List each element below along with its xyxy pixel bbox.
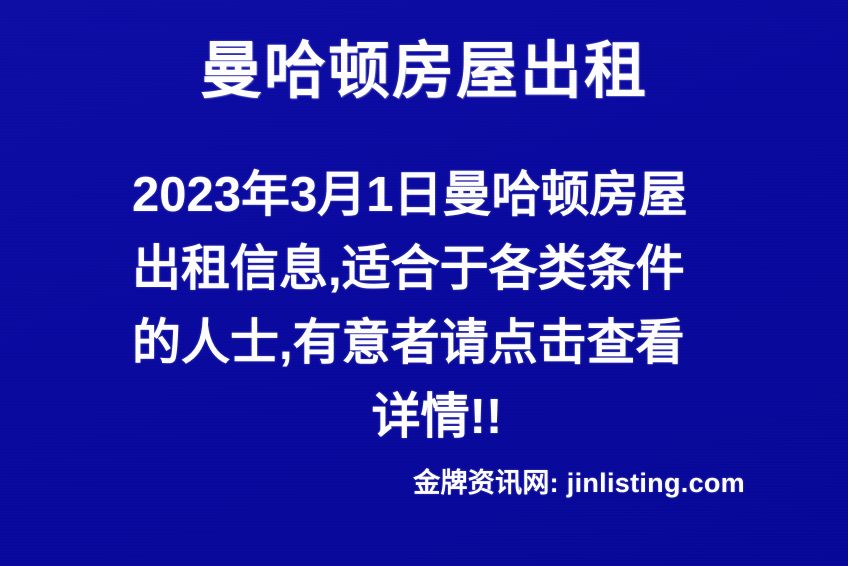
rental-ad-poster: 曼哈顿房屋出租 2023年3月1日曼哈顿房屋 出租信息,适合于各类条件 的人士,…: [0, 0, 848, 566]
ad-body-text: 2023年3月1日曼哈顿房屋 出租信息,适合于各类条件 的人士,有意者请点击查看…: [132, 158, 742, 454]
site-attribution: 金牌资讯网: jinlisting.com: [0, 466, 745, 500]
ad-body-line-1: 2023年3月1日曼哈顿房屋: [132, 158, 742, 232]
ad-body-line-4: 详情!!: [132, 380, 742, 454]
page-title: 曼哈顿房屋出租: [0, 36, 848, 108]
ad-body-line-3: 的人士,有意者请点击查看: [132, 306, 742, 380]
ad-body-line-2: 出租信息,适合于各类条件: [132, 232, 742, 306]
